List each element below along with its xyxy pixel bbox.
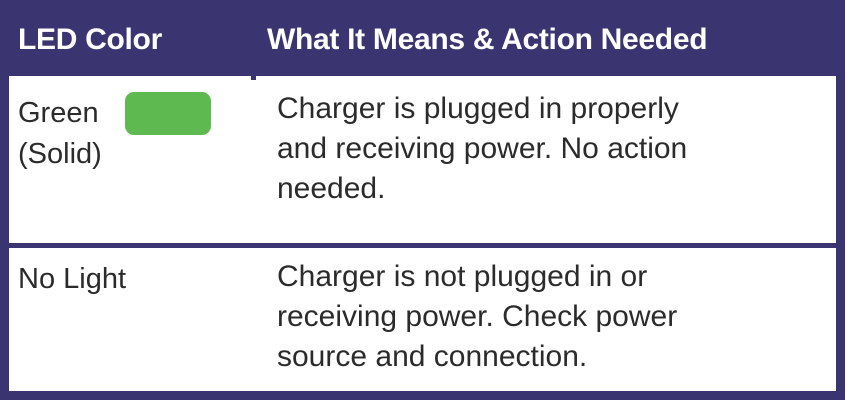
meaning-line: Charger is plugged in properly <box>277 89 836 129</box>
meaning-line: and receiving power. No action <box>277 129 836 169</box>
meaning-line: source and connection. <box>277 337 836 377</box>
column-header-what-it-means: What It Means & Action Needed <box>267 0 707 80</box>
table-header-row: LED Color What It Means & Action Needed <box>0 0 845 80</box>
table-body: Green (Solid) Charger is plugged in prop… <box>0 76 845 400</box>
cell-meaning: Charger is not plugged in or receiving p… <box>256 248 836 377</box>
led-color-sublabel: (Solid) <box>18 135 251 174</box>
cell-led-color: No Light <box>9 248 251 299</box>
cell-led-color: Green (Solid) <box>9 80 251 174</box>
cell-meaning: Charger is plugged in properly and recei… <box>256 80 836 209</box>
led-status-table: LED Color What It Means & Action Needed … <box>0 0 845 400</box>
table-row: No Light Charger is not plugged in or re… <box>9 248 836 391</box>
meaning-line: needed. <box>277 169 836 209</box>
led-color-label: Green <box>18 94 99 133</box>
green-status-swatch <box>125 92 211 135</box>
meaning-line: Charger is not plugged in or <box>277 257 836 297</box>
meaning-line: receiving power. Check power <box>277 297 836 337</box>
column-header-led-color: LED Color <box>18 0 162 80</box>
led-color-label: No Light <box>18 260 251 299</box>
table-row: Green (Solid) Charger is plugged in prop… <box>9 80 836 243</box>
